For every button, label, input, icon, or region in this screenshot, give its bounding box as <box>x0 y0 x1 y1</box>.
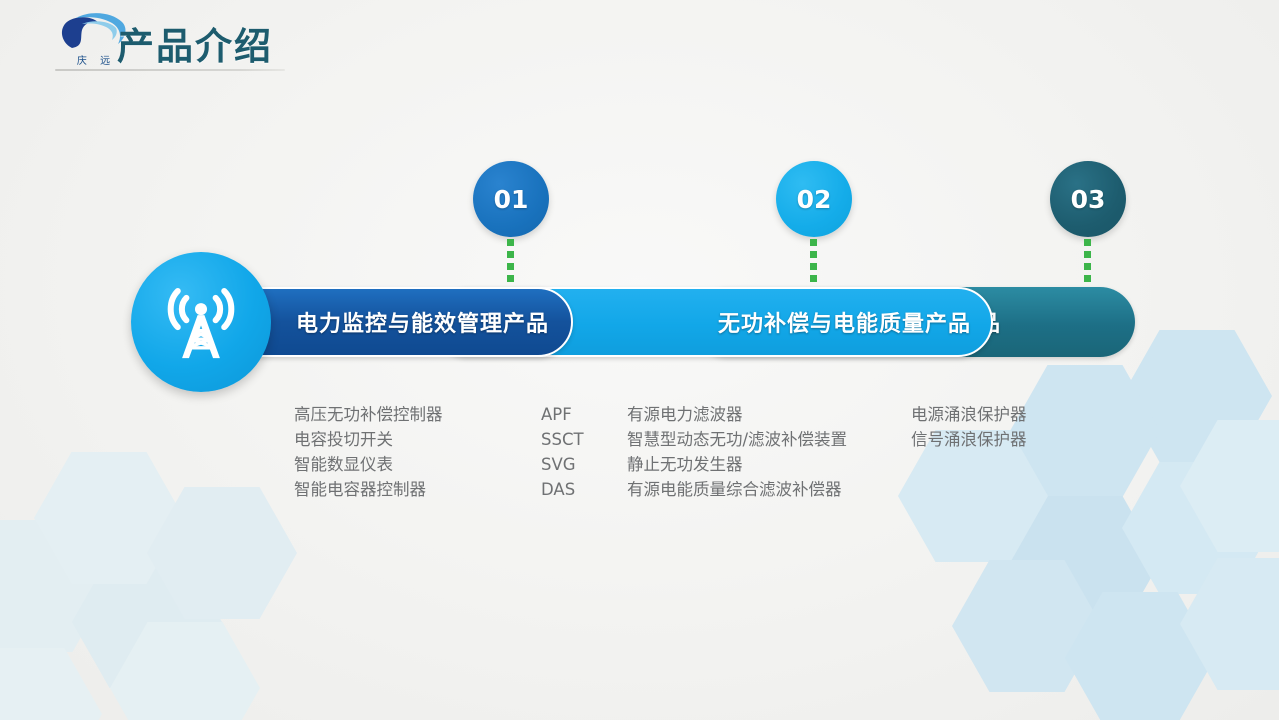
product-list-item: DAS 有源电能质量综合滤波补偿器 <box>541 477 847 502</box>
product-abbreviation: SVG <box>541 452 627 477</box>
product-list-item: 电容投切开关 <box>294 427 443 452</box>
background-hexagon <box>1065 592 1215 720</box>
step-marker-label: 01 <box>494 185 529 214</box>
product-list-item: 高压无功补偿控制器 <box>294 402 443 427</box>
category-segment-label: 无功补偿与电能质量产品 <box>718 306 971 338</box>
product-name: 智能数显仪表 <box>294 455 393 474</box>
product-list-item: 信号涌浪保护器 <box>911 427 1027 452</box>
background-hexagon <box>1010 365 1160 497</box>
broadcast-tower-icon <box>158 279 244 365</box>
product-list-item: APF 有源电力滤波器 <box>541 402 847 427</box>
step-marker-03[interactable]: 03 <box>1050 161 1126 237</box>
product-name: 信号涌浪保护器 <box>911 430 1027 449</box>
product-list-item: SSCT 智慧型动态无功/滤波补偿装置 <box>541 427 847 452</box>
product-name: 智能电容器控制器 <box>294 480 426 499</box>
background-hexagon <box>952 560 1102 692</box>
product-list-item: 智能电容器控制器 <box>294 477 443 502</box>
category-banner: 雷电防护产品 无功补偿与电能质量产品 电力监控与能效管理产品 <box>133 252 1135 372</box>
slide-header: 庆 远 产品介绍 <box>0 0 1279 86</box>
product-list-item: 电源涌浪保护器 <box>911 402 1027 427</box>
background-hexagon <box>1122 330 1272 462</box>
product-name: 静止无功发生器 <box>627 452 743 477</box>
product-name: 高压无功补偿控制器 <box>294 405 443 424</box>
step-marker-01[interactable]: 01 <box>473 161 549 237</box>
product-list-reactive-power: APF 有源电力滤波器 SSCT 智慧型动态无功/滤波补偿装置 SVG 静止无功… <box>541 402 847 502</box>
background-hexagon <box>147 487 297 619</box>
background-hexagon <box>1180 558 1279 690</box>
product-list-power-monitoring: 高压无功补偿控制器 电容投切开关 智能数显仪表 智能电容器控制器 <box>294 402 443 502</box>
background-hexagon <box>110 622 260 720</box>
product-name: 有源电能质量综合滤波补偿器 <box>627 477 842 502</box>
product-name: 电源涌浪保护器 <box>911 405 1027 424</box>
product-name: 智慧型动态无功/滤波补偿装置 <box>627 427 847 452</box>
background-hexagon <box>1122 462 1272 594</box>
background-hexagon <box>0 648 102 720</box>
step-marker-label: 02 <box>797 185 832 214</box>
title-underline <box>55 69 285 71</box>
step-marker-02[interactable]: 02 <box>776 161 852 237</box>
product-name: 电容投切开关 <box>294 430 393 449</box>
slide-canvas: 庆 远 产品介绍 01 02 03 雷电防护产品 无功补偿与电能质量产品 电力监… <box>0 0 1279 720</box>
page-title: 产品介绍 <box>117 16 273 70</box>
product-abbreviation: SSCT <box>541 427 627 452</box>
product-name: 有源电力滤波器 <box>627 402 743 427</box>
background-hexagon <box>72 556 222 688</box>
product-list-item: 智能数显仪表 <box>294 452 443 477</box>
product-list-lightning-protection: 电源涌浪保护器 信号涌浪保护器 <box>911 402 1027 452</box>
product-abbreviation: DAS <box>541 477 627 502</box>
background-hexagon <box>1010 496 1160 628</box>
category-segment-label: 电力监控与能效管理产品 <box>296 306 549 338</box>
product-list-item: SVG 静止无功发生器 <box>541 452 847 477</box>
background-hexagon <box>1180 420 1279 552</box>
banner-icon-badge <box>131 252 271 392</box>
background-hexagon <box>0 520 110 652</box>
background-hexagon <box>34 452 184 584</box>
step-marker-label: 03 <box>1071 185 1106 214</box>
product-abbreviation: APF <box>541 402 627 427</box>
